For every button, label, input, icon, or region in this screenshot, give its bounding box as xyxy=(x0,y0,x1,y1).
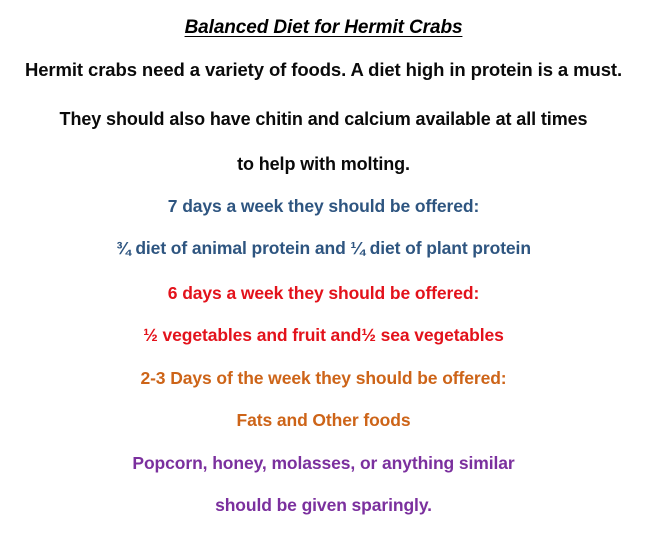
section-six-days-heading: 6 days a week they should be offered: xyxy=(0,285,647,303)
document-title: Balanced Diet for Hermit Crabs xyxy=(0,18,647,37)
intro-line-2: They should also have chitin and calcium… xyxy=(0,110,647,128)
intro-line-3: to help with molting. xyxy=(0,155,647,173)
section-sparingly-heading: Popcorn, honey, molasses, or anything si… xyxy=(0,455,647,473)
section-two-three-days-heading: 2-3 Days of the week they should be offe… xyxy=(0,370,647,388)
document-page: Balanced Diet for Hermit Crabs Hermit cr… xyxy=(0,0,647,534)
section-seven-days-heading: 7 days a week they should be offered: xyxy=(0,198,647,216)
section-seven-days-detail: ¾ diet of animal protein and ¼ diet of p… xyxy=(0,240,647,258)
section-two-three-days-detail: Fats and Other foods xyxy=(0,412,647,430)
intro-line-1: Hermit crabs need a variety of foods. A … xyxy=(0,61,647,80)
section-six-days-detail: ½ vegetables and fruit and½ sea vegetabl… xyxy=(0,327,647,345)
section-sparingly-detail: should be given sparingly. xyxy=(0,497,647,515)
